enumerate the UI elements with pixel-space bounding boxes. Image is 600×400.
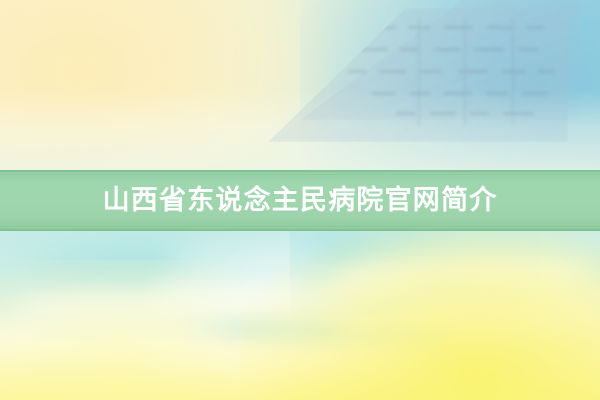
page-title: 山西省东说念主民病院官网简介 xyxy=(103,170,498,231)
bottom-yellow-glow-right xyxy=(240,231,600,400)
page-root: 山西省东说念主民病院官网简介 xyxy=(0,0,600,400)
bottom-background xyxy=(0,231,600,400)
title-banner: 山西省东说念主民病院官网简介 xyxy=(0,170,600,231)
